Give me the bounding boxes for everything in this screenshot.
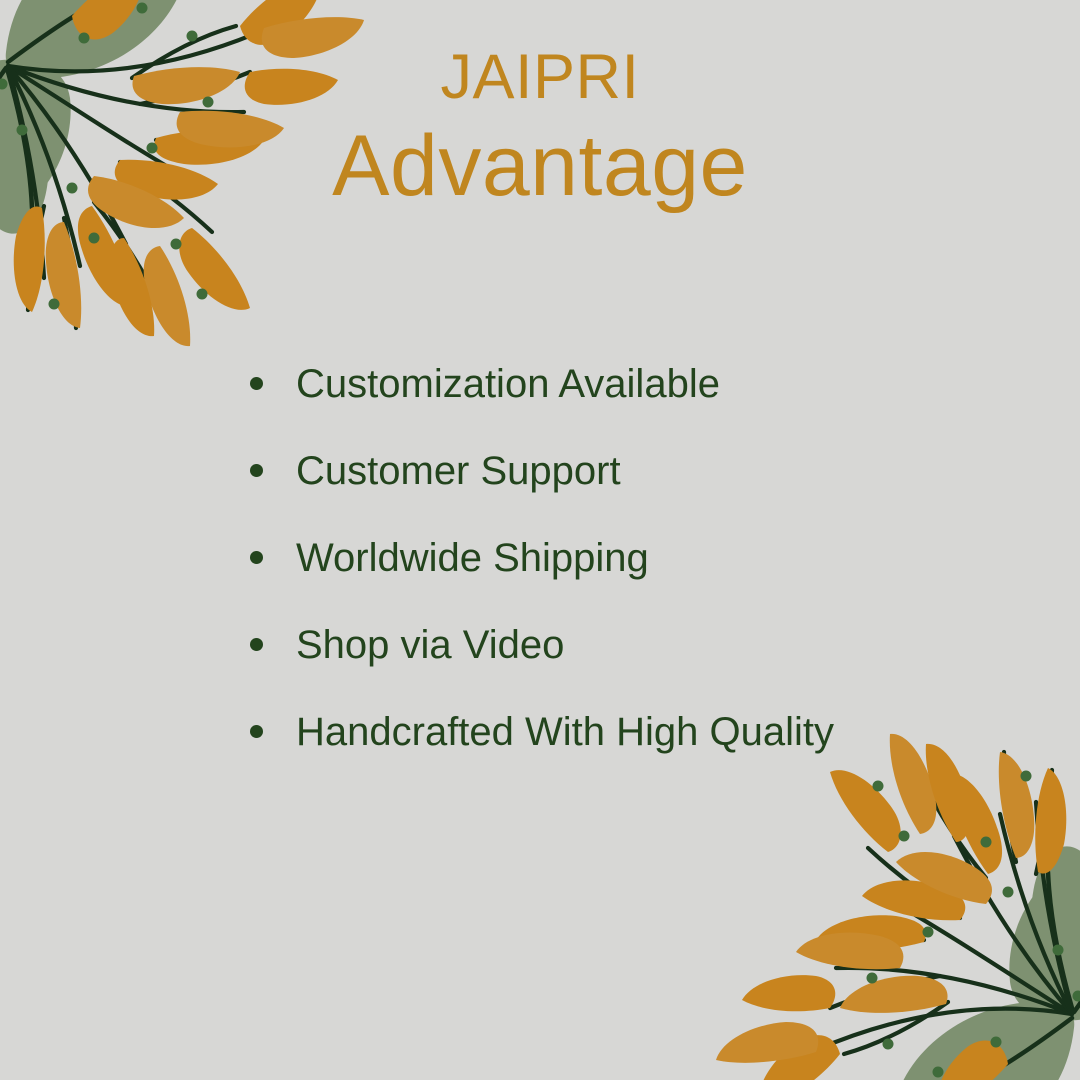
leaf-veins [930, 872, 1080, 1080]
bullet-dot-icon [250, 551, 263, 564]
list-item: Worldwide Shipping [250, 514, 834, 601]
advantage-label: Shop via Video [296, 623, 564, 667]
list-item: Customer Support [250, 427, 834, 514]
advantage-list: Customization Available Customer Support… [250, 340, 834, 775]
poster-canvas: JAIPRI Advantage Customization Available… [0, 0, 1080, 1080]
list-item: Customization Available [250, 340, 834, 427]
sage-leaf-cluster [893, 846, 1080, 1080]
green-dots [867, 771, 1080, 1078]
page-title: JAIPRI Advantage [0, 44, 1080, 212]
list-item: Shop via Video [250, 601, 834, 688]
bullet-dot-icon [250, 464, 263, 477]
brand-name: JAIPRI [0, 44, 1080, 111]
bullet-dot-icon [250, 377, 263, 390]
bullet-dot-icon [250, 638, 263, 651]
title-word: Advantage [0, 121, 1080, 212]
list-item: Handcrafted With High Quality [250, 688, 834, 775]
bullet-dot-icon [250, 725, 263, 738]
ochre-petals [716, 734, 1066, 1080]
advantage-label: Customization Available [296, 362, 720, 406]
advantage-label: Customer Support [296, 449, 621, 493]
advantage-label: Handcrafted With High Quality [296, 710, 834, 754]
advantage-label: Worldwide Shipping [296, 536, 649, 580]
branch-stems [816, 752, 1072, 1054]
